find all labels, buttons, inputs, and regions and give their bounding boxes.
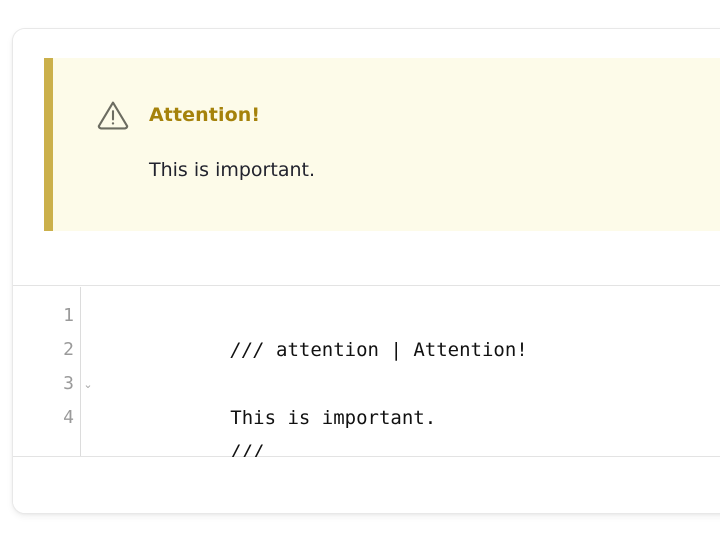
rendered-preview-pane: Attention! This is important.: [13, 29, 720, 286]
code-token-fence: ///: [230, 339, 264, 361]
gutter-row: 3 ⌄: [13, 367, 80, 401]
code-token-text: This is important.: [230, 407, 436, 429]
gutter-row: 4: [13, 401, 80, 435]
warning-triangle-icon: [95, 97, 131, 133]
admonition-attention: Attention! This is important.: [44, 58, 720, 231]
preview-card: Attention! This is important. 1 2: [12, 28, 720, 514]
line-number-gutter: 1 2 3 ⌄ 4: [13, 287, 81, 456]
gutter-row: 2: [13, 333, 80, 367]
screen-root: Attention! This is important. 1 2: [0, 0, 720, 544]
admonition-title: Attention!: [149, 104, 260, 126]
gutter-row: 1: [13, 299, 80, 333]
admonition-body: Attention! This is important.: [53, 58, 720, 231]
code-area[interactable]: 1 2 3 ⌄ 4 /// attention | At: [13, 287, 720, 457]
line-number: 2: [62, 341, 74, 359]
source-editor-pane: 1 2 3 ⌄ 4 /// attention | At: [13, 287, 720, 513]
admonition-body-text: This is important.: [149, 159, 315, 181]
code-lines[interactable]: /// attention | Attention! This is impor…: [93, 287, 720, 456]
code-token-directive: attention | Attention!: [265, 339, 528, 361]
line-number: 3: [62, 375, 74, 393]
admonition-header: Attention!: [95, 97, 260, 133]
line-number: 4: [62, 409, 74, 427]
admonition-accent-bar: [44, 58, 53, 231]
code-line-1: /// attention | Attention!: [93, 299, 720, 333]
line-number: 1: [62, 307, 74, 325]
editor-footer: [13, 457, 720, 514]
